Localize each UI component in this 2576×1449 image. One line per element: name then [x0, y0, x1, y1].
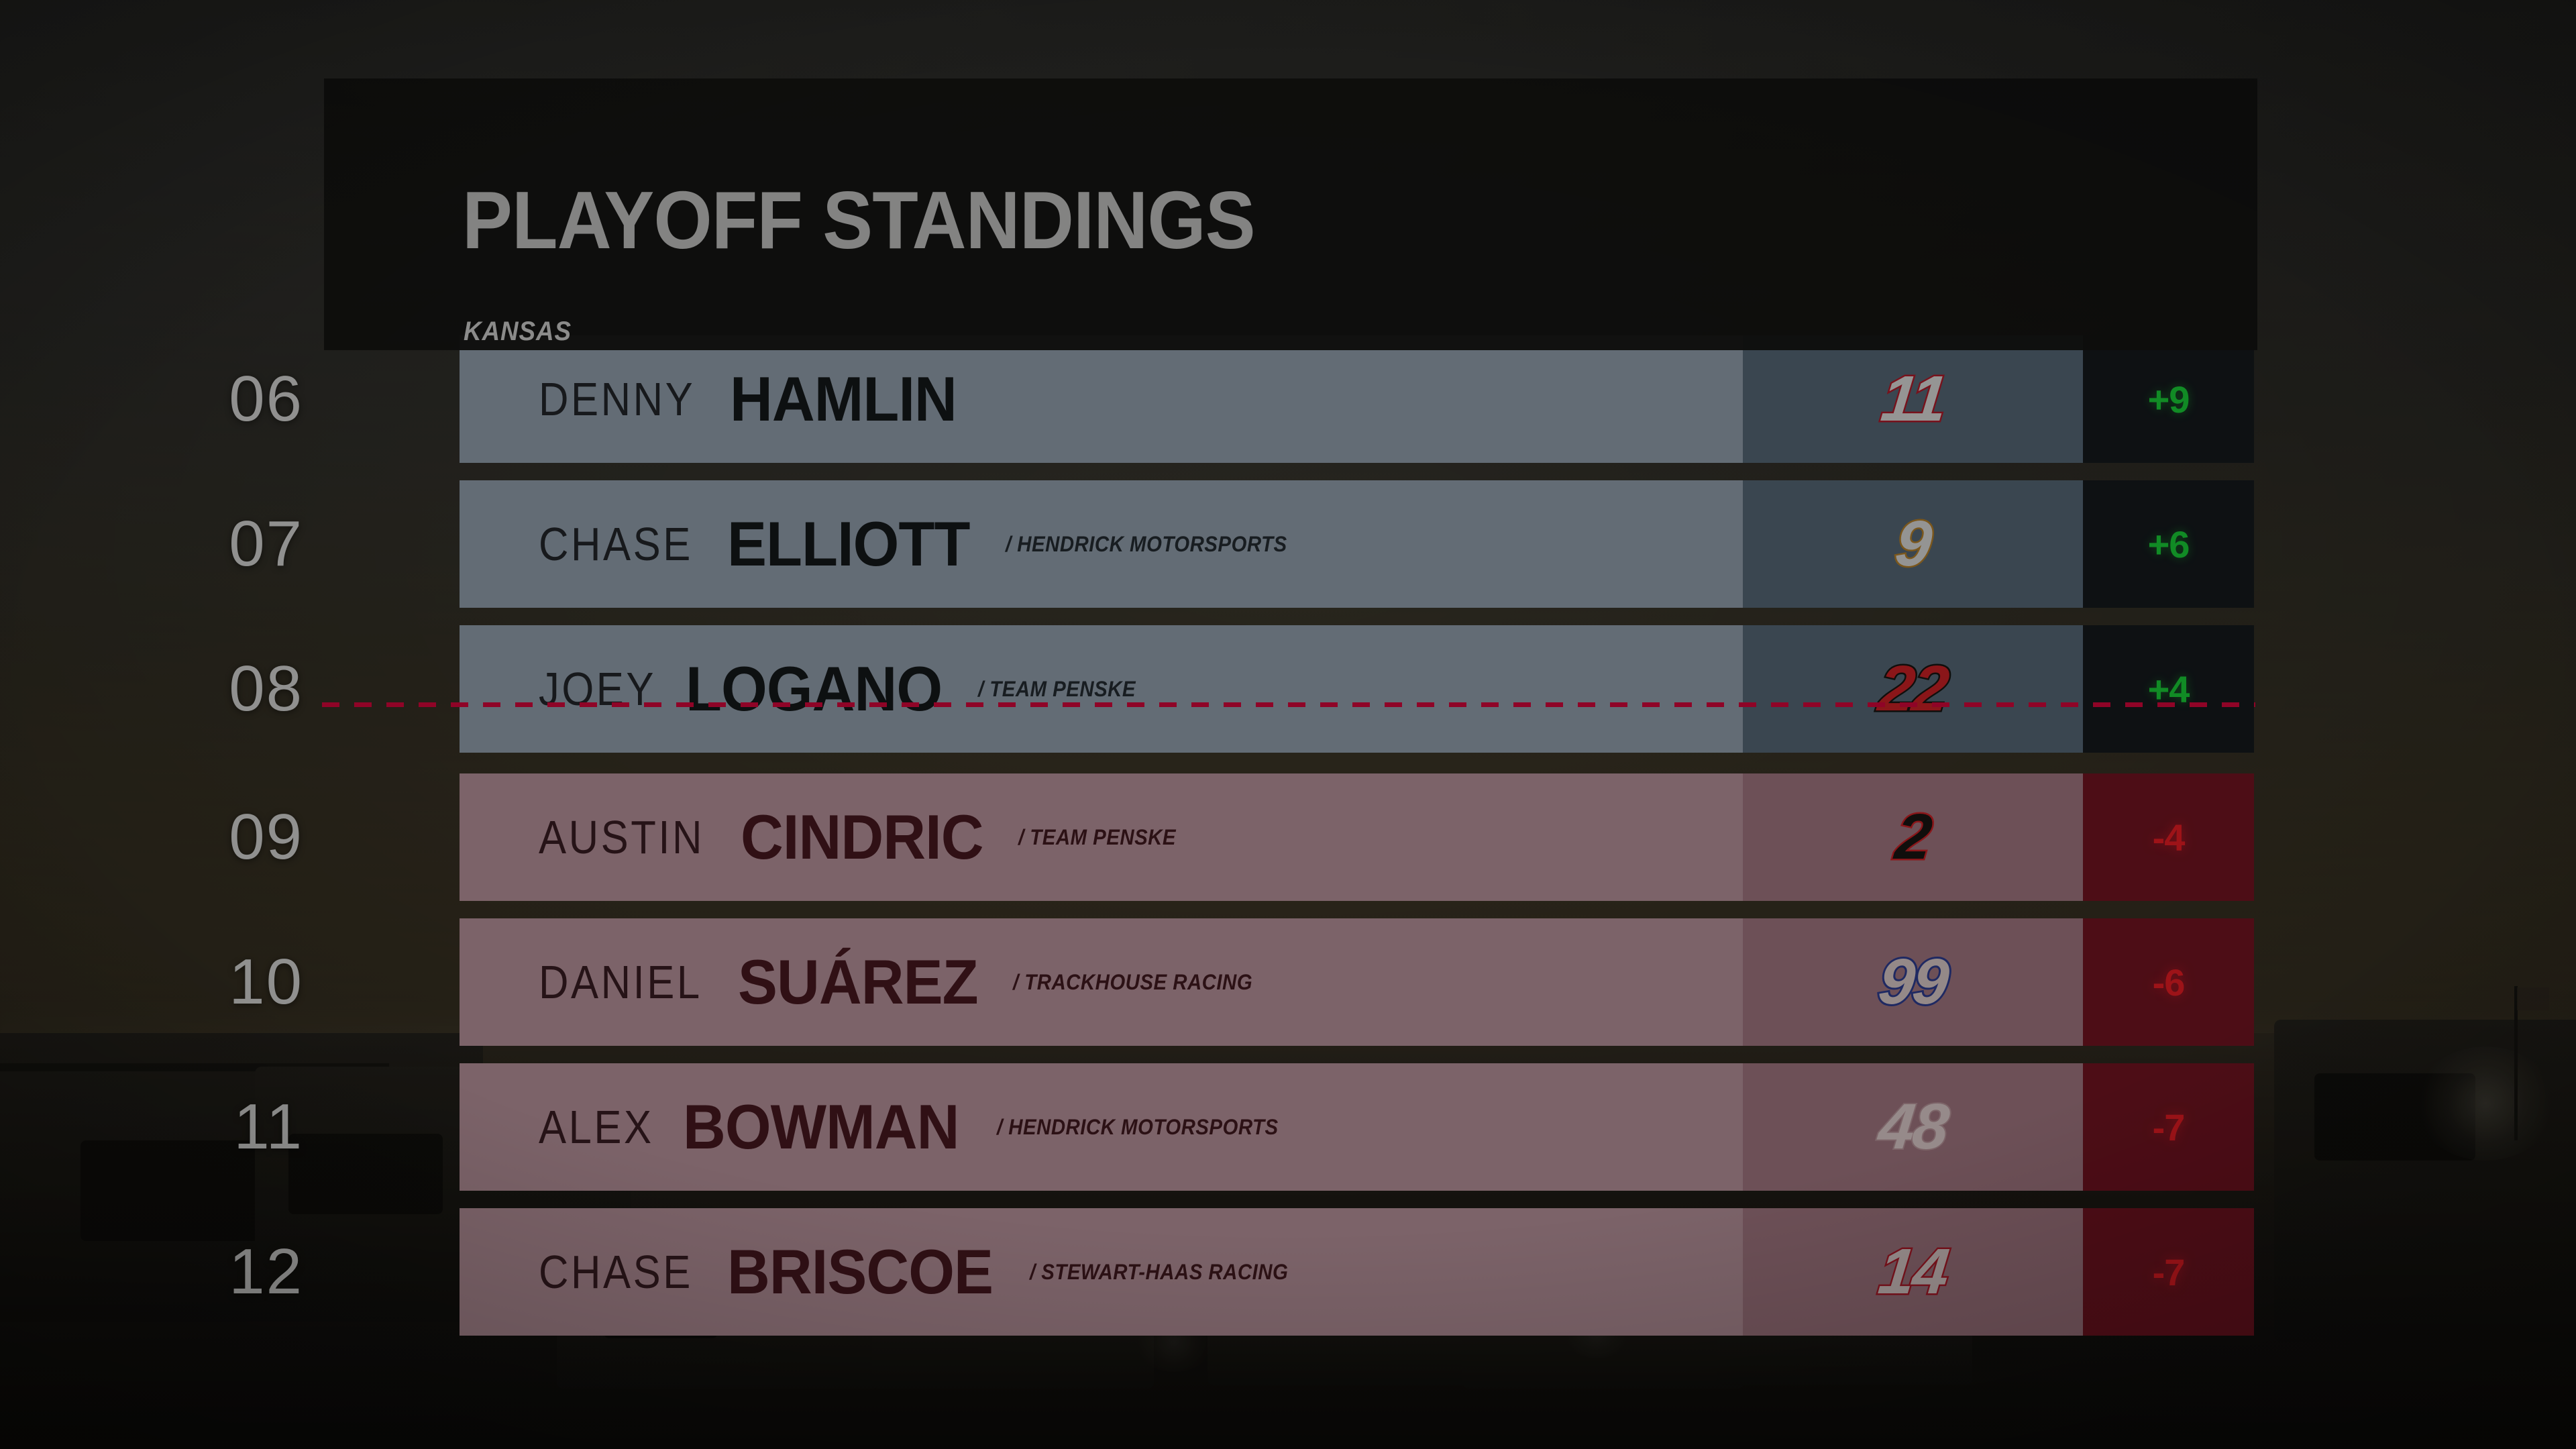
- row-car-cell: 48: [1743, 1063, 2083, 1191]
- car-number: 22: [1875, 652, 1950, 726]
- standings-table: 07 CHASE ELLIOTT / HENDRICK MOTORSPORTS …: [322, 335, 2254, 1353]
- driver-first-name: CHASE: [539, 517, 693, 571]
- row-position: 09: [188, 773, 303, 901]
- table-row[interactable]: 10 DANIEL SUÁREZ / TRACKHOUSE RACING 99 …: [322, 918, 2254, 1046]
- table-row[interactable]: 11 ALEX BOWMAN / HENDRICK MOTORSPORTS 48…: [322, 1063, 2254, 1191]
- driver-team: / TEAM PENSKE: [978, 677, 1136, 702]
- driver-last-name: SUÁREZ: [738, 946, 978, 1018]
- car-number: 99: [1875, 945, 1950, 1019]
- row-points-cell: -6: [2083, 918, 2254, 1046]
- row-name-bar: AUSTIN CINDRIC / TEAM PENSKE: [460, 773, 1743, 901]
- row-position: 10: [188, 918, 303, 1046]
- points-delta: +6: [2148, 523, 2190, 566]
- row-position: 08: [188, 625, 303, 753]
- driver-team: / STEWART-HAAS RACING: [1030, 1260, 1288, 1285]
- row-position: 12: [188, 1208, 303, 1336]
- driver-first-name: AUSTIN: [539, 810, 704, 864]
- driver-first-name: DANIEL: [539, 955, 702, 1009]
- graphic-header-panel: PLAYOFF STANDINGS KANSAS: [324, 78, 2257, 350]
- driver-last-name: ELLIOTT: [727, 508, 970, 580]
- car-number: 48: [1875, 1090, 1950, 1164]
- row-car-cell: 22: [1743, 625, 2083, 753]
- car-number: 2: [1892, 800, 1934, 874]
- race-subtitle: KANSAS: [464, 317, 572, 347]
- row-points-cell: -7: [2083, 1063, 2254, 1191]
- row-points-cell: +6: [2083, 480, 2254, 608]
- points-delta: -7: [2153, 1250, 2185, 1294]
- row-points-cell: +4: [2083, 625, 2254, 753]
- row-position: 11: [188, 1063, 303, 1191]
- row-position: 07: [188, 480, 303, 608]
- driver-last-name: BOWMAN: [683, 1091, 959, 1163]
- playoff-standings-graphic: 06 DENNY HAMLIN 11 +9 07 CHASE ELLIOTT /…: [0, 0, 2576, 1449]
- row-points-cell: -7: [2083, 1208, 2254, 1336]
- points-delta: -4: [2153, 816, 2185, 859]
- driver-first-name: CHASE: [539, 1245, 693, 1299]
- row-car-cell: 99: [1743, 918, 2083, 1046]
- row-car-cell: 9: [1743, 480, 2083, 608]
- driver-team: / HENDRICK MOTORSPORTS: [997, 1115, 1279, 1140]
- table-row[interactable]: 07 CHASE ELLIOTT / HENDRICK MOTORSPORTS …: [322, 480, 2254, 608]
- row-car-cell: 2: [1743, 773, 2083, 901]
- driver-last-name: BRISCOE: [727, 1236, 993, 1308]
- table-row[interactable]: 12 CHASE BRISCOE / STEWART-HAAS RACING 1…: [322, 1208, 2254, 1336]
- driver-first-name: JOEY: [539, 662, 656, 716]
- row-name-bar: DANIEL SUÁREZ / TRACKHOUSE RACING: [460, 918, 1743, 1046]
- page-title: PLAYOFF STANDINGS: [462, 179, 1255, 261]
- driver-team: / HENDRICK MOTORSPORTS: [1006, 532, 1287, 557]
- row-position: 06: [188, 335, 303, 463]
- points-delta: -7: [2153, 1106, 2185, 1149]
- car-number: 9: [1892, 507, 1934, 581]
- row-name-bar: CHASE BRISCOE / STEWART-HAAS RACING: [460, 1208, 1743, 1336]
- driver-last-name: CINDRIC: [741, 801, 983, 873]
- driver-team: / TEAM PENSKE: [1018, 825, 1176, 850]
- driver-first-name: ALEX: [539, 1100, 654, 1154]
- driver-last-name: LOGANO: [686, 653, 942, 725]
- row-car-cell: 14: [1743, 1208, 2083, 1336]
- table-row[interactable]: 08 JOEY LOGANO / TEAM PENSKE 22 +4: [322, 625, 2254, 753]
- driver-team: / TRACKHOUSE RACING: [1013, 970, 1252, 995]
- table-row[interactable]: 09 AUSTIN CINDRIC / TEAM PENSKE 2 -4: [322, 773, 2254, 901]
- points-delta: -6: [2153, 961, 2185, 1004]
- row-name-bar: ALEX BOWMAN / HENDRICK MOTORSPORTS: [460, 1063, 1743, 1191]
- row-points-cell: -4: [2083, 773, 2254, 901]
- row-name-bar: JOEY LOGANO / TEAM PENSKE: [460, 625, 1743, 753]
- car-number: 14: [1875, 1235, 1950, 1309]
- playoff-cut-line: [322, 702, 2255, 707]
- row-name-bar: CHASE ELLIOTT / HENDRICK MOTORSPORTS: [460, 480, 1743, 608]
